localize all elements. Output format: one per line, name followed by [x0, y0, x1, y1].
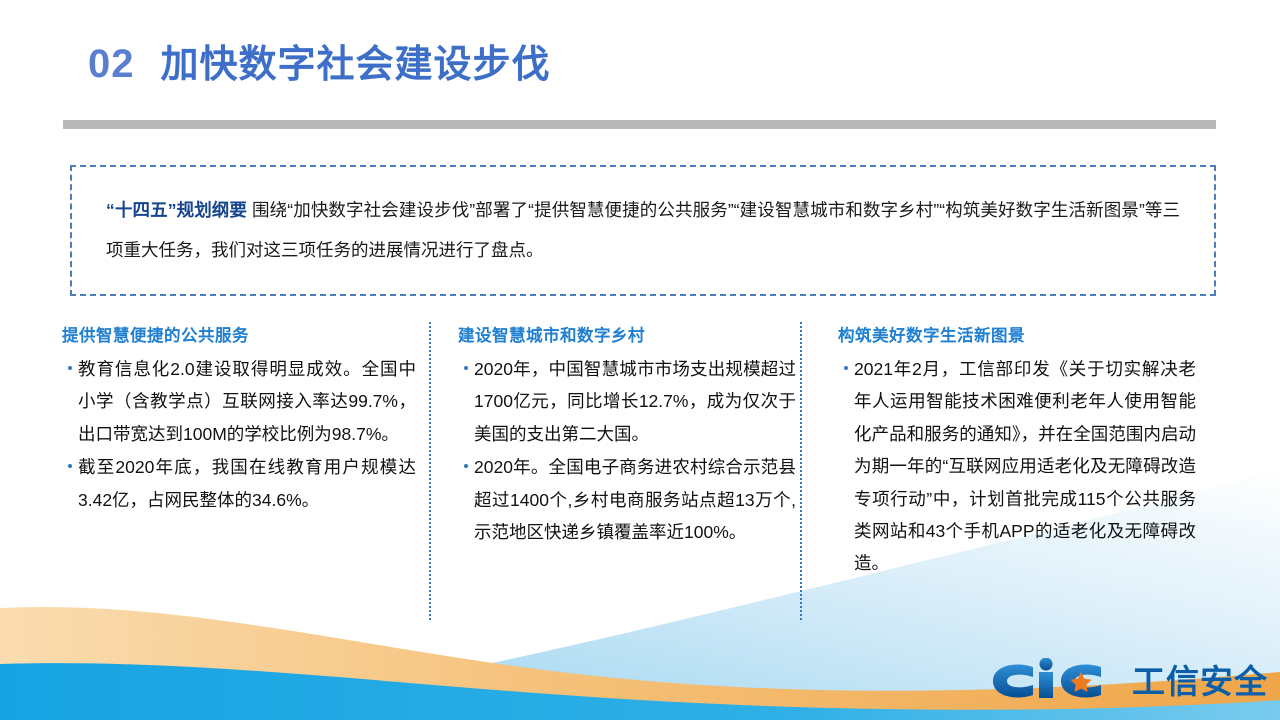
- bullet-list: 教育信息化2.0建设取得明显成效。全国中小学（含教学点）互联网接入率达99.7%…: [62, 353, 416, 516]
- list-item: 2021年2月，工信部印发《关于切实解决老年人运用智能技术困难便利老年人使用智能…: [838, 353, 1196, 580]
- bullet-dot-icon: [458, 366, 474, 370]
- column-smart-city: 建设智慧城市和数字乡村 2020年，中国智慧城市市场支出规模超过1700亿元，同…: [458, 322, 810, 662]
- intro-paragraph: “十四五”规划纲要 围绕“加快数字社会建设步伐”部署了“提供智慧便捷的公共服务”…: [72, 191, 1214, 270]
- logo-letter-c-left: [993, 665, 1033, 698]
- content-columns: 提供智慧便捷的公共服务 教育信息化2.0建设取得明显成效。全国中小学（含教学点）…: [0, 322, 1280, 662]
- list-item: 2020年，中国智慧城市市场支出规模超过1700亿元，同比增长12.7%，成为仅…: [458, 353, 796, 450]
- logo-letter-i-dot: [1040, 658, 1053, 671]
- bullet-dot-icon: [838, 366, 854, 370]
- section-title: 加快数字社会建设步伐: [161, 46, 551, 84]
- bullet-list: 2020年，中国智慧城市市场支出规模超过1700亿元，同比增长12.7%，成为仅…: [458, 353, 796, 548]
- intro-callout-box: “十四五”规划纲要 围绕“加快数字社会建设步伐”部署了“提供智慧便捷的公共服务”…: [70, 165, 1216, 296]
- intro-highlight: “十四五”规划纲要: [106, 200, 247, 220]
- cic-logo-mark: [985, 658, 1127, 704]
- list-item: 教育信息化2.0建设取得明显成效。全国中小学（含教学点）互联网接入率达99.7%…: [62, 353, 416, 450]
- bullet-dot-icon: [62, 366, 78, 370]
- list-item-text: 2020年，中国智慧城市市场支出规模超过1700亿元，同比增长12.7%，成为仅…: [474, 353, 796, 450]
- list-item-text: 截至2020年底，我国在线教育用户规模达3.42亿，占网民整体的34.6%。: [78, 451, 416, 516]
- list-item-text: 教育信息化2.0建设取得明显成效。全国中小学（含教学点）互联网接入率达99.7%…: [78, 353, 416, 450]
- slide-header: 02 加快数字社会建设步伐: [0, 0, 1280, 140]
- list-item-text: 2021年2月，工信部印发《关于切实解决老年人运用智能技术困难便利老年人使用智能…: [854, 353, 1196, 580]
- column-digital-life: 构筑美好数字生活新图景 2021年2月，工信部印发《关于切实解决老年人运用智能技…: [838, 322, 1210, 662]
- page-title: 02 加快数字社会建设步伐: [88, 44, 551, 84]
- column-heading: 建设智慧城市和数字乡村: [458, 322, 796, 346]
- title-divider-bar: [63, 120, 1216, 129]
- list-item: 2020年。全国电子商务进农村综合示范县超过1400个,乡村电商服务站点超13万…: [458, 451, 796, 548]
- column-heading: 构筑美好数字生活新图景: [838, 322, 1196, 346]
- list-item: 截至2020年底，我国在线教育用户规模达3.42亿，占网民整体的34.6%。: [62, 451, 416, 516]
- column-public-services: 提供智慧便捷的公共服务 教育信息化2.0建设取得明显成效。全国中小学（含教学点）…: [62, 322, 430, 662]
- bullet-dot-icon: [62, 464, 78, 468]
- brand-name: 工信安全: [1132, 665, 1268, 698]
- bullet-list: 2021年2月，工信部印发《关于切实解决老年人运用智能技术困难便利老年人使用智能…: [838, 353, 1196, 580]
- column-heading: 提供智慧便捷的公共服务: [62, 322, 416, 346]
- bullet-dot-icon: [458, 464, 474, 468]
- list-item-text: 2020年。全国电子商务进农村综合示范县超过1400个,乡村电商服务站点超13万…: [474, 451, 796, 548]
- section-number: 02: [88, 44, 135, 84]
- brand-logo: 工信安全: [985, 658, 1268, 704]
- intro-body: 围绕“加快数字社会建设步伐”部署了“提供智慧便捷的公共服务”“建设智慧城市和数字…: [106, 200, 1180, 259]
- logo-letter-i: [1039, 672, 1053, 698]
